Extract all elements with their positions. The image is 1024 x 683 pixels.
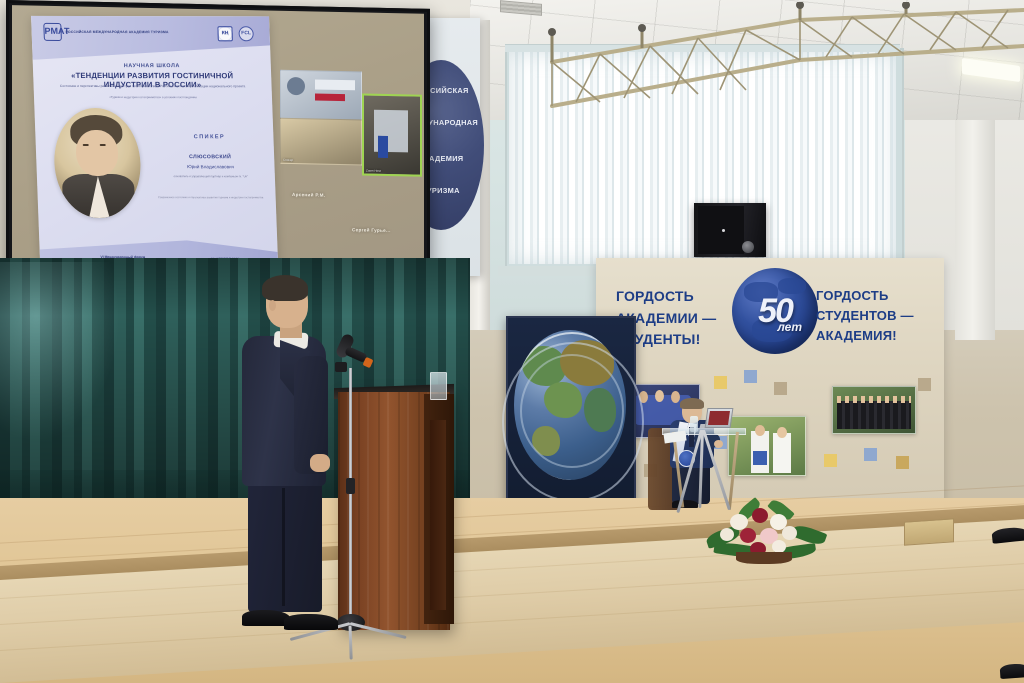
decor-square	[864, 448, 877, 461]
slide-speaker-position: основатель и управляющий партнёр и компа…	[159, 174, 263, 178]
slide-academy-logo: РМАТ РОССИЙСКАЯ МЕЖДУНАРОДНАЯ АКАДЕМИЯ Т…	[43, 23, 169, 41]
slide-speaker-firstname: Юрий Владиславович	[156, 164, 264, 169]
stage-step	[904, 518, 954, 545]
video-tile-speaker[interactable]: Спикер	[280, 118, 362, 166]
banner-photo-students	[728, 416, 806, 476]
conference-hall-photo: РОССИЙСКАЯ МЕЖДУНАРОДНАЯ АКАДЕМИЯ ТУРИЗМ…	[0, 0, 1024, 683]
water-bottle	[690, 416, 698, 432]
anniversary-globe-logo: 50 лет	[732, 268, 818, 354]
slide-speaker-note: Современное состояние и перспективы разв…	[156, 196, 266, 200]
decor-square	[896, 456, 909, 469]
podium-inset-panel	[430, 420, 446, 610]
partner-logo-icon: FCL	[238, 26, 254, 41]
seated-hand	[714, 440, 723, 448]
speaker-ear	[269, 300, 276, 311]
video-call-gallery: Спикер Zoom Host Арсений Р.М. Сергей Гур…	[274, 66, 424, 239]
pa-speaker-grille	[698, 206, 744, 254]
speaker-legs	[248, 476, 322, 612]
decor-square	[774, 382, 787, 395]
video-participant-name-1: Арсений Р.М.	[292, 192, 325, 198]
slide-partner-logos: РЦ КН ГИ FCL	[217, 26, 254, 41]
speaker-person	[236, 278, 346, 638]
floral-arrangement	[706, 498, 826, 564]
slide-speaker-label: СПИКЕР	[155, 134, 263, 140]
anniversary-word: лет	[777, 320, 802, 334]
video-tile-name: Zoom Host	[366, 169, 381, 173]
pa-speaker	[694, 203, 766, 257]
presentation-slide: РМАТ РОССИЙСКАЯ МЕЖДУНАРОДНАЯ АКАДЕМИЯ Т…	[31, 16, 279, 288]
video-tile-host[interactable]: Zoom Host	[362, 93, 422, 176]
lighting-truss	[500, 2, 1024, 120]
banner-right-line-2: СТУДЕНТОВ —	[816, 306, 934, 326]
decor-square	[824, 454, 837, 467]
seated-shoe	[672, 500, 698, 508]
pa-speaker-driver	[742, 241, 754, 253]
microphone-stand-collar	[346, 478, 355, 494]
globe-artwork-board	[506, 316, 636, 516]
speaker-shoe	[284, 614, 338, 630]
speaker-hair	[262, 275, 308, 301]
academy-logo-text: РОССИЙСКАЯ МЕЖДУНАРОДНАЯ АКАДЕМИЯ ТУРИЗМ…	[66, 29, 169, 34]
decor-square	[918, 378, 931, 391]
banner-right-line-3: АКАДЕМИЯ!	[816, 326, 934, 346]
banner-photo-group	[832, 386, 916, 434]
slide-kicker: НАУЧНАЯ ШКОЛА	[33, 63, 271, 69]
seated-hair	[680, 398, 704, 409]
slide-speaker-surname: СЛЮСОВСКИЙ	[156, 154, 264, 160]
banner-right-text: ГОРДОСТЬ СТУДЕНТОВ — АКАДЕМИЯ!	[816, 286, 934, 346]
slide-subline-2: «Туризм и индустрия гостеприимства» в ус…	[58, 95, 248, 100]
slide-subline-1: Состояние и перспективы развития индустр…	[52, 84, 254, 90]
academy-logo-mark: РМАТ	[43, 23, 62, 41]
video-participant-name-2: Сергей Гурье...	[352, 227, 391, 233]
speaker-hand	[310, 454, 330, 472]
water-glass	[430, 372, 447, 400]
anniversary-number: 50	[732, 292, 818, 331]
attendee-shoe	[1000, 663, 1024, 679]
banner-right-line-1: ГОРДОСТЬ	[816, 286, 934, 306]
speaker-shoe	[242, 610, 290, 626]
video-tile-name: Спикер	[283, 158, 293, 162]
decor-square	[744, 370, 757, 383]
decor-square	[714, 376, 727, 389]
speaker-portrait	[52, 108, 142, 218]
pa-speaker-led	[722, 229, 725, 232]
partner-logo-icon: КН	[217, 26, 233, 41]
globe-orbit-ring	[502, 342, 644, 502]
banner-left-line-1: ГОРДОСТЬ	[616, 286, 734, 308]
laptop-screen	[705, 408, 734, 428]
